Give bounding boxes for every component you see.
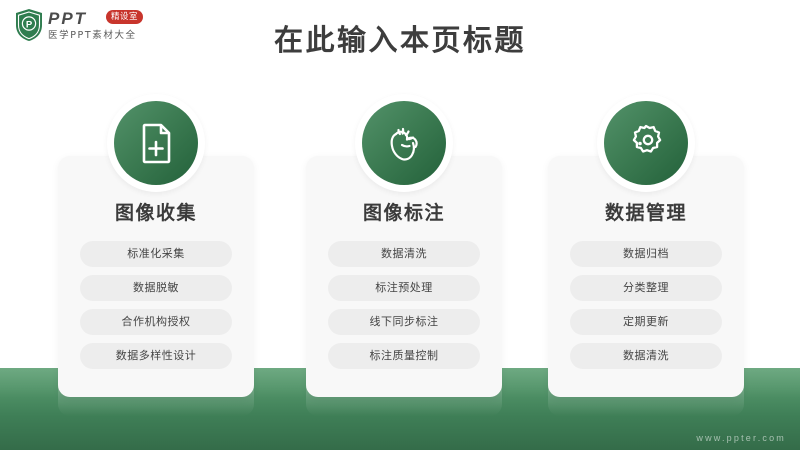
card-item[interactable]: 定期更新 xyxy=(570,309,722,335)
card-icon-ring xyxy=(107,94,205,192)
cell-nucleus-icon xyxy=(624,121,668,165)
card-title: 图像收集 xyxy=(58,198,254,225)
card-item[interactable]: 标注质量控制 xyxy=(328,343,480,369)
feature-card[interactable]: 图像收集 标准化采集 数据脱敏 合作机构授权 数据多样性设计 xyxy=(58,156,254,397)
anatomical-heart-icon xyxy=(382,121,426,165)
card-item[interactable]: 线下同步标注 xyxy=(328,309,480,335)
card-icon-ring xyxy=(597,94,695,192)
feature-card[interactable]: 数据管理 数据归档 分类整理 定期更新 数据清洗 xyxy=(548,156,744,397)
card-icon-ring xyxy=(355,94,453,192)
card-icon-circle xyxy=(114,101,198,185)
feature-card[interactable]: 图像标注 数据清洗 标注预处理 线下同步标注 标注质量控制 xyxy=(306,156,502,397)
card-body: 数据管理 数据归档 分类整理 定期更新 数据清洗 xyxy=(548,156,744,397)
card-body: 图像收集 标准化采集 数据脱敏 合作机构授权 数据多样性设计 xyxy=(58,156,254,397)
card-item[interactable]: 数据归档 xyxy=(570,241,722,267)
card-item-list: 标准化采集 数据脱敏 合作机构授权 数据多样性设计 xyxy=(58,241,254,369)
card-row: 图像收集 标准化采集 数据脱敏 合作机构授权 数据多样性设计 xyxy=(0,0,800,450)
card-item[interactable]: 合作机构授权 xyxy=(80,309,232,335)
card-item-list: 数据清洗 标注预处理 线下同步标注 标注质量控制 xyxy=(306,241,502,369)
card-item-list: 数据归档 分类整理 定期更新 数据清洗 xyxy=(548,241,744,369)
card-title: 数据管理 xyxy=(548,198,744,225)
card-icon-circle xyxy=(604,101,688,185)
card-item[interactable]: 分类整理 xyxy=(570,275,722,301)
card-body: 图像标注 数据清洗 标注预处理 线下同步标注 标注质量控制 xyxy=(306,156,502,397)
card-icon-circle xyxy=(362,101,446,185)
card-item[interactable]: 数据多样性设计 xyxy=(80,343,232,369)
card-item[interactable]: 数据清洗 xyxy=(570,343,722,369)
slide-canvas: www.ppter.com P PPT 精设室 医学PPT素材大全 在此输入本页… xyxy=(0,0,800,450)
card-title: 图像标注 xyxy=(306,198,502,225)
card-item[interactable]: 标准化采集 xyxy=(80,241,232,267)
card-item[interactable]: 数据清洗 xyxy=(328,241,480,267)
document-plus-icon xyxy=(134,121,178,165)
card-item[interactable]: 数据脱敏 xyxy=(80,275,232,301)
card-item[interactable]: 标注预处理 xyxy=(328,275,480,301)
